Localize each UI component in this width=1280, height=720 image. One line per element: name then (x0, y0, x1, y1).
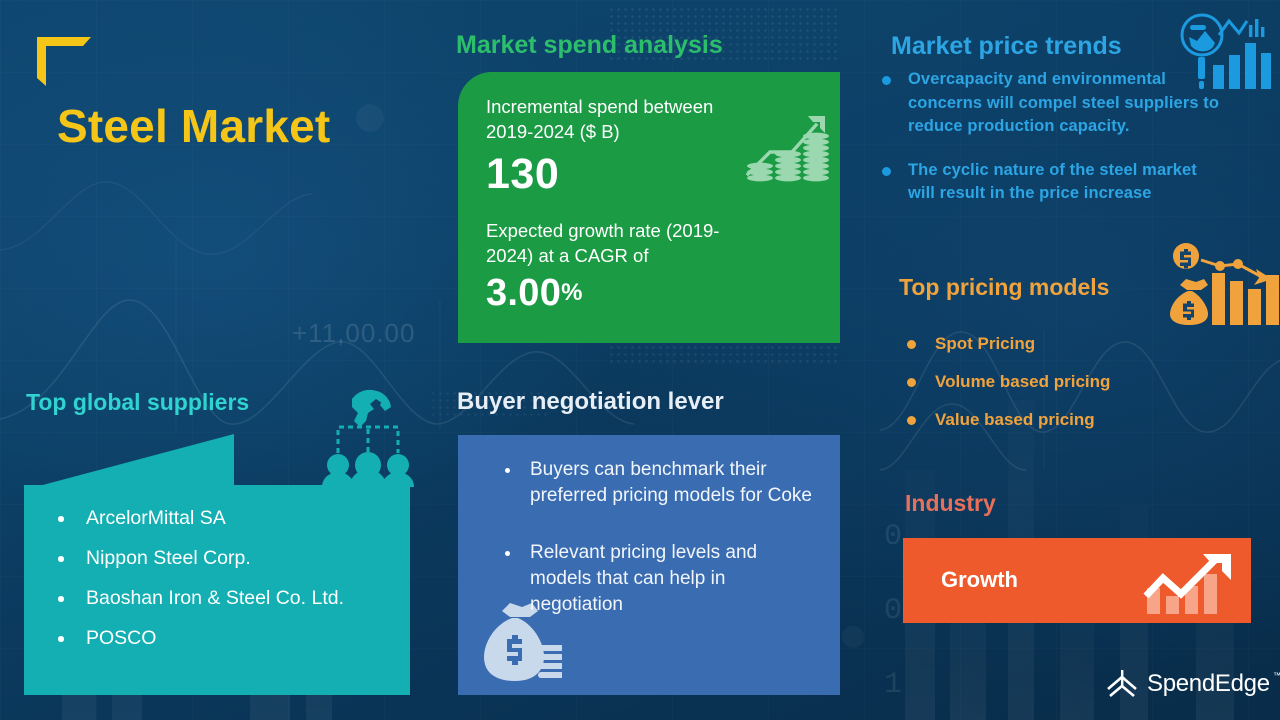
top-pricing-models-list: Spot Pricing Volume based pricing Value … (902, 333, 1222, 447)
list-item: ArcelorMittal SA (34, 506, 398, 531)
trademark-symbol: ™ (1273, 671, 1280, 680)
list-item: Relevant pricing levels and models that … (498, 540, 818, 618)
upward-trend-bars-icon (1143, 552, 1235, 614)
list-item: Baoshan Iron & Steel Co. Ltd. (34, 586, 398, 611)
background-glow-2 (842, 626, 864, 648)
list-item: Nippon Steel Corp. (34, 546, 398, 571)
corner-bracket-decoration (37, 30, 91, 86)
cagr-value: 3.00 (486, 272, 561, 314)
status-badge: Growth (941, 567, 1018, 593)
section-heading-market-price-trends: Market price trends (891, 32, 1122, 61)
incremental-spend-value: 130 (486, 150, 559, 199)
cagr-value-group: 3.00% (486, 272, 583, 315)
page-title: Steel Market (57, 99, 330, 153)
list-item: Spot Pricing (902, 333, 1222, 355)
section-heading-buyer-negotiation-lever: Buyer negotiation lever (457, 388, 724, 416)
buyer-negotiation-list: Buyers can benchmark their preferred pri… (498, 457, 818, 649)
list-item: Value based pricing (902, 409, 1222, 431)
incremental-spend-label: Incremental spend between 2019-2024 ($ B… (486, 94, 744, 144)
spendedge-logo: SpendEdge ™ (1106, 666, 1258, 702)
coin-stack-growth-icon (746, 112, 830, 184)
slide-canvas: +11,00.00 001 Steel Market Market spend … (0, 0, 1280, 720)
background-glow-1 (356, 104, 384, 132)
list-item: Overcapacity and environmental concerns … (878, 68, 1222, 139)
buyer-negotiation-panel: Buyers can benchmark their preferred pri… (458, 435, 840, 695)
money-bag-declining-chart-icon (1168, 243, 1280, 325)
spendedge-chevron-mark-icon (1106, 669, 1138, 699)
section-heading-industry: Industry (905, 490, 996, 517)
globe-supplier-network-icon (322, 385, 414, 487)
background-ticker-value: +11,00.00 (292, 318, 415, 349)
logo-text-label: SpendEdge (1147, 670, 1270, 697)
list-item: POSCO (34, 626, 398, 651)
section-heading-market-spend: Market spend analysis (456, 31, 723, 60)
market-spend-panel: Incremental spend between 2019-2024 ($ B… (458, 72, 840, 343)
section-heading-top-global-suppliers: Top global suppliers (26, 389, 249, 416)
supplier-list: ArcelorMittal SA Nippon Steel Corp. Baos… (34, 506, 398, 666)
list-item: The cyclic nature of the steel market wi… (878, 159, 1222, 206)
list-item: Buyers can benchmark their preferred pri… (498, 457, 818, 509)
supplier-panel-callout-pointer (24, 434, 234, 490)
section-heading-top-pricing-models: Top pricing models (899, 274, 1109, 301)
expected-growth-rate-label: Expected growth rate (2019-2024) at a CA… (486, 218, 766, 268)
market-price-trends-list: Overcapacity and environmental concerns … (878, 68, 1222, 226)
top-global-suppliers-panel: ArcelorMittal SA Nippon Steel Corp. Baos… (24, 485, 410, 695)
list-item: Volume based pricing (902, 371, 1222, 393)
industry-growth-status-bar: Growth (903, 538, 1251, 623)
background-binary-text: 001 (884, 500, 902, 720)
logo-wordmark: SpendEdge ™ (1147, 670, 1270, 698)
cagr-unit: % (561, 279, 583, 306)
